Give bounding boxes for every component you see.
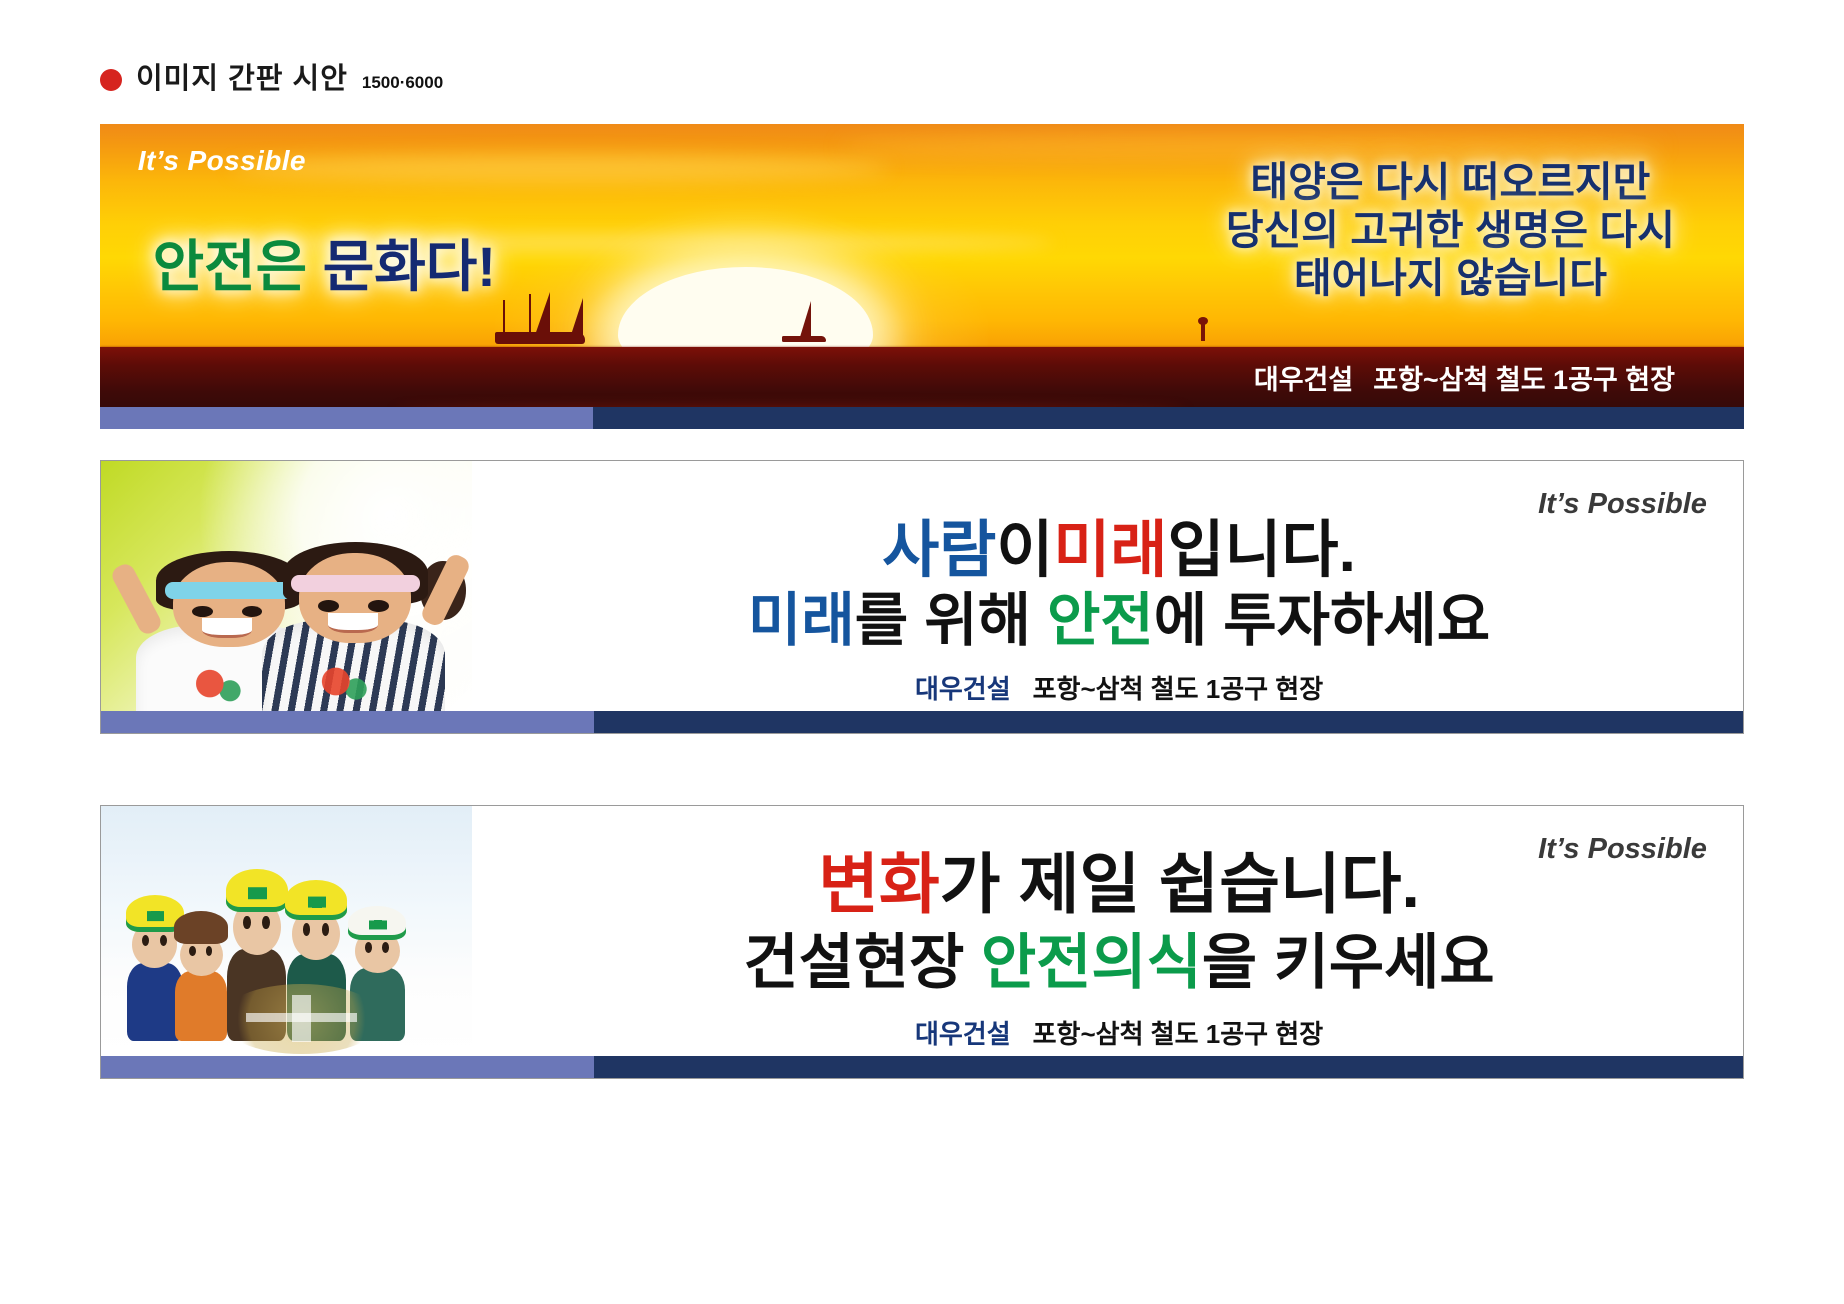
banner-kids: It’s Possible 사람이미래입니다. 미래를 위해 안전에 투자하세요… [100, 460, 1744, 734]
document-header: 이미지 간판 시안 1500·6000 [100, 55, 443, 97]
line1-seg-2: 가 제일 쉽습니다. [940, 847, 1420, 921]
document-page: 이미지 간판 시안 1500·6000 It’ [0, 0, 1844, 1304]
sailboat-silhouette [782, 336, 826, 342]
safety-cross-icon [374, 920, 383, 929]
hairband [291, 575, 420, 593]
slogan-part-navy: 문화다! [323, 235, 496, 298]
eye [318, 600, 339, 612]
banner-clay: It’s Possible 변화가 제일 쉽습니다. 건설현장 안전의식을 키우… [100, 805, 1744, 1079]
line2-seg-1: 미래 [748, 588, 855, 653]
line2-seg-1: 건설현장 [744, 929, 981, 996]
line2-seg-3: 을 키우세요 [1202, 929, 1495, 996]
footer-segment-light [100, 407, 593, 429]
safety-cross-icon [312, 897, 321, 908]
company-name: 대우건설 [1254, 365, 1353, 395]
banner-message: 변화가 제일 쉽습니다. 건설현장 안전의식을 키우세요 [528, 850, 1710, 996]
cloud-streak [840, 136, 1662, 157]
message-line-2: 미래를 위해 안전에 투자하세요 [528, 589, 1710, 654]
banner-slogan: 안전은 문화다! [153, 222, 496, 303]
body [175, 971, 227, 1041]
ship-silhouette [495, 332, 585, 344]
message-line-1: 사람이미래입니다. [528, 518, 1710, 583]
tagline-its-possible: It’s Possible [1538, 488, 1707, 521]
eye [142, 935, 149, 946]
line1-seg-3: 미래 [1053, 516, 1167, 585]
cloud-streak [232, 155, 890, 182]
footer-segment-dark [594, 1056, 1743, 1078]
banner-message: 태양은 다시 떠오르지만 당신의 고귀한 생명은 다시 태어나지 않습니다 [1226, 158, 1675, 303]
company-name: 대우건설 [915, 1019, 1011, 1049]
banner-credit: 대우건설포항~삼척 철도 1공구 현장 [528, 1014, 1710, 1051]
eye [303, 923, 310, 935]
eye [160, 935, 167, 946]
children-photo [101, 461, 472, 711]
safety-emblem-watermark [220, 984, 383, 1054]
site-name: 포항~삼척 철도 1공구 현장 [1033, 674, 1324, 704]
footer-segment-light [101, 1056, 594, 1078]
red-dot-icon [100, 69, 122, 91]
clay-figures-photo [101, 806, 472, 1056]
page-title: 이미지 간판 시안 [136, 55, 348, 97]
banner-sunset: It’s Possible 안전은 문화다! 태양은 다시 떠오르지만 당신의 … [100, 124, 1744, 429]
line2-seg-2: 안전의식 [981, 929, 1202, 996]
line2-seg-2: 를 위해 [855, 588, 1047, 653]
buoy-icon [1201, 323, 1205, 341]
footer-segment-dark [594, 711, 1743, 733]
size-spec-label: 1500·6000 [362, 73, 443, 93]
smile [202, 618, 252, 638]
eye [368, 600, 389, 612]
eye [322, 923, 329, 935]
message-line-1: 변화가 제일 쉽습니다. [528, 850, 1710, 919]
company-name: 대우건설 [915, 674, 1011, 704]
eye [365, 942, 372, 952]
child-right [249, 526, 457, 711]
banner-credit: 대우건설포항~삼척 철도 1공구 현장 [528, 669, 1710, 706]
banner-message: 사람이미래입니다. 미래를 위해 안전에 투자하세요 [528, 518, 1710, 654]
hair-brown [174, 911, 229, 944]
safety-cross-icon [253, 888, 262, 900]
smile [328, 613, 378, 634]
tshirt-print [299, 659, 390, 710]
site-name: 포항~삼척 철도 1공구 현장 [1373, 365, 1675, 395]
line1-seg-1: 변화 [818, 847, 939, 921]
footer-segment-dark [593, 407, 1744, 429]
eye [189, 946, 196, 956]
line2-seg-4: 에 투자하세요 [1154, 588, 1490, 653]
message-line-1: 태양은 다시 떠오르지만 [1226, 158, 1675, 206]
banner-credit: 대우건설포항~삼척 철도 1공구 현장 [1254, 358, 1675, 397]
tagline-its-possible: It’s Possible [138, 145, 306, 177]
line2-seg-3: 안전 [1047, 588, 1154, 653]
sailboat-icon [534, 292, 550, 338]
message-line-3: 태어나지 않습니다 [1226, 254, 1675, 302]
footer-segment-light [101, 711, 594, 733]
slogan-part-green: 안전은 [153, 235, 308, 298]
footer-bar [100, 407, 1744, 429]
line1-seg-4: 입니다. [1167, 516, 1355, 585]
line1-seg-1: 사람 [882, 516, 996, 585]
footer-bar [101, 1056, 1743, 1078]
eye [262, 916, 269, 929]
message-line-2: 당신의 고귀한 생명은 다시 [1226, 206, 1675, 254]
site-name: 포항~삼척 철도 1공구 현장 [1033, 1019, 1324, 1049]
message-line-2: 건설현장 안전의식을 키우세요 [528, 929, 1710, 996]
eye [243, 916, 250, 929]
line1-seg-2: 이 [996, 516, 1053, 585]
footer-bar [101, 711, 1743, 733]
safety-cross-icon [151, 911, 160, 921]
